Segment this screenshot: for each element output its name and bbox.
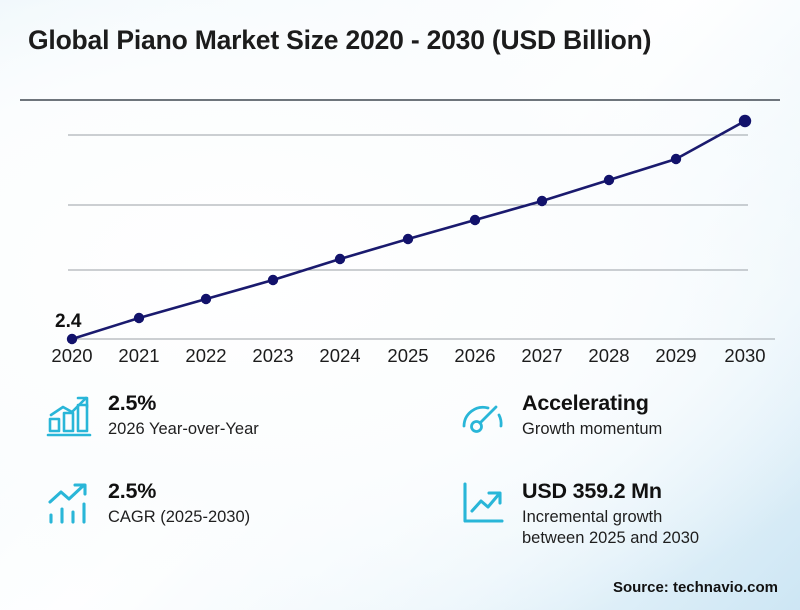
stat-momentum-text: Accelerating Growth momentum bbox=[522, 390, 662, 440]
x-tick-2023: 2023 bbox=[252, 345, 293, 367]
data-label-2020: 2.4 bbox=[55, 311, 82, 332]
x-tick-2020: 2020 bbox=[51, 345, 92, 367]
stat-cagr-text: 2.5% CAGR (2025-2030) bbox=[108, 478, 250, 528]
x-tick-2025: 2025 bbox=[387, 345, 428, 367]
x-tick-2030: 2030 bbox=[724, 345, 765, 367]
x-tick-2028: 2028 bbox=[588, 345, 629, 367]
stat-yoy-label: 2026 Year-over-Year bbox=[108, 419, 259, 440]
stat-cagr-label: CAGR (2025-2030) bbox=[108, 507, 250, 528]
x-tick-2027: 2027 bbox=[521, 345, 562, 367]
stat-incremental-text: USD 359.2 Mn Incremental growth between … bbox=[522, 478, 699, 549]
line-chart: 2.4 bbox=[0, 105, 800, 365]
stat-incremental-label: Incremental growth between 2025 and 2030 bbox=[522, 507, 699, 549]
stat-cagr: 2.5% CAGR (2025-2030) bbox=[44, 478, 404, 528]
bar-chart-growth-icon bbox=[44, 390, 94, 440]
stat-incremental-value: USD 359.2 Mn bbox=[522, 479, 662, 503]
stat-momentum-value: Accelerating bbox=[522, 391, 649, 415]
chart-series-line bbox=[72, 121, 745, 339]
infographic-canvas: Global Piano Market Size 2020 - 2030 (US… bbox=[0, 0, 800, 610]
x-tick-2029: 2029 bbox=[655, 345, 696, 367]
speedometer-icon bbox=[458, 390, 508, 440]
stat-yoy-value: 2.5% bbox=[108, 391, 156, 415]
x-tick-2026: 2026 bbox=[454, 345, 495, 367]
x-tick-2022: 2022 bbox=[185, 345, 226, 367]
stat-incremental: USD 359.2 Mn Incremental growth between … bbox=[458, 478, 788, 549]
line-chart-arrow-icon bbox=[458, 478, 508, 528]
header-divider bbox=[20, 99, 780, 101]
stat-cagr-value: 2.5% bbox=[108, 479, 156, 503]
x-tick-2021: 2021 bbox=[118, 345, 159, 367]
stat-yoy: 2.5% 2026 Year-over-Year bbox=[44, 390, 404, 440]
trend-up-bars-icon bbox=[44, 478, 94, 528]
stats-grid: 2.5% 2026 Year-over-Year 2.5% CAGR (2025… bbox=[0, 382, 800, 562]
x-tick-2024: 2024 bbox=[319, 345, 360, 367]
page-title: Global Piano Market Size 2020 - 2030 (US… bbox=[28, 24, 748, 57]
source-attribution: Source: technavio.com bbox=[613, 579, 778, 596]
chart-svg: 2.4 bbox=[0, 105, 800, 365]
stat-yoy-text: 2.5% 2026 Year-over-Year bbox=[108, 390, 259, 440]
stat-momentum-label: Growth momentum bbox=[522, 419, 662, 440]
x-axis-tick-labels: 2020 2021 2022 2023 2024 2025 2026 2027 … bbox=[0, 345, 800, 369]
stat-momentum: Accelerating Growth momentum bbox=[458, 390, 788, 440]
